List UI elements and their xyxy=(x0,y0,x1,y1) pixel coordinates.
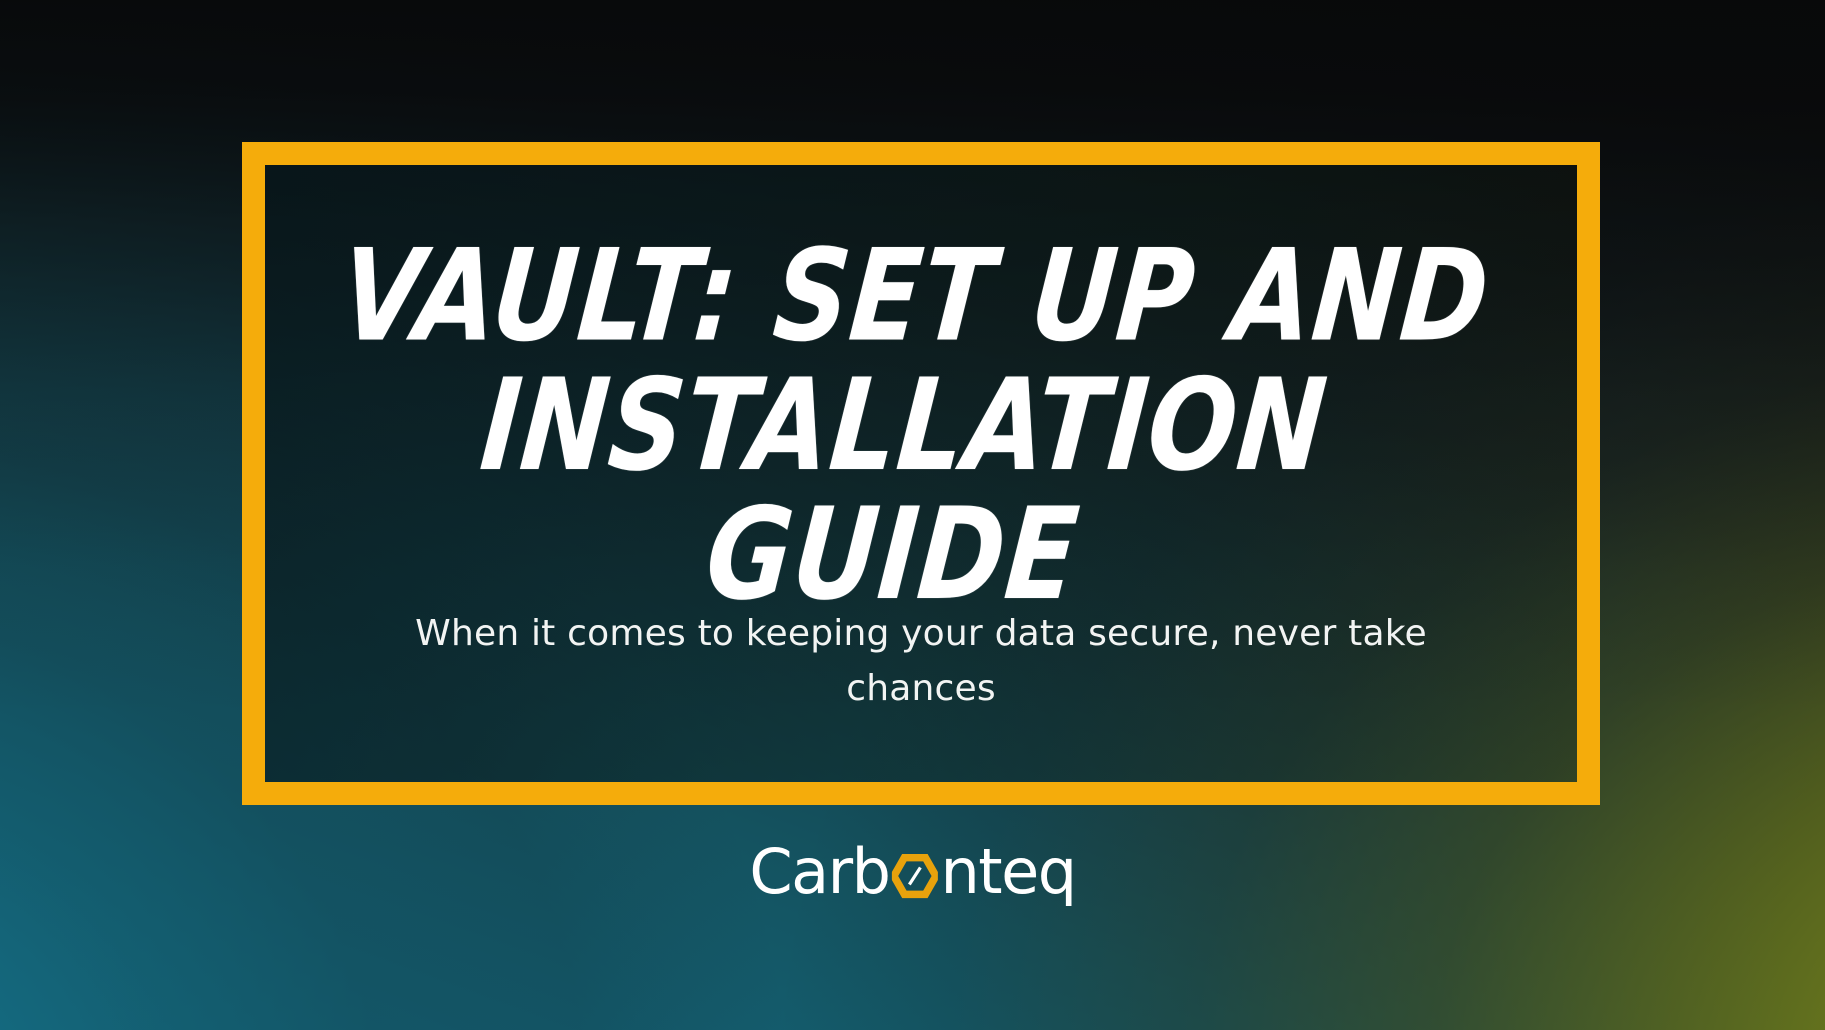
logo-text-right: nteq xyxy=(941,841,1076,903)
presentation-slide: Vault: Set Up and Installation Guide Whe… xyxy=(0,0,1825,1030)
yellow-border-frame: Vault: Set Up and Installation Guide Whe… xyxy=(242,142,1600,805)
hexagon-icon xyxy=(892,854,938,900)
title-line-1: Vault: Set Up and xyxy=(336,221,1496,370)
carbonteq-logo: Carb nteq xyxy=(749,841,1075,903)
title-line-2: Installation Guide xyxy=(475,351,1332,629)
slide-content: Vault: Set Up and Installation Guide Whe… xyxy=(265,165,1577,782)
logo-text-left: Carb xyxy=(749,841,889,903)
page-title: Vault: Set Up and Installation Guide xyxy=(283,231,1525,619)
